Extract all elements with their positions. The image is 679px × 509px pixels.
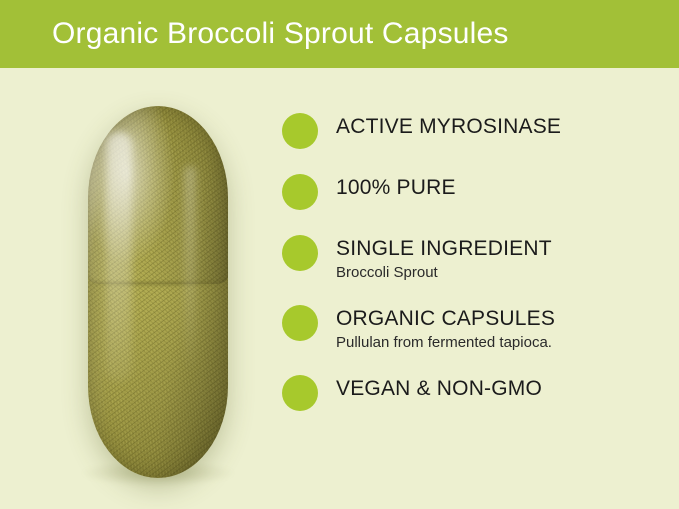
feature-title: ACTIVE MYROSINASE	[336, 114, 561, 140]
bullet-dot-icon	[282, 375, 318, 411]
bullet-dot-icon	[282, 305, 318, 341]
list-item: SINGLE INGREDIENT Broccoli Sprout	[282, 234, 662, 283]
header-banner: Organic Broccoli Sprout Capsules	[0, 0, 679, 68]
page-title: Organic Broccoli Sprout Capsules	[52, 17, 509, 51]
feature-subtitle: Pullulan from fermented tapioca.	[336, 333, 555, 353]
capsule-body	[88, 106, 228, 478]
feature-title: ORGANIC CAPSULES	[336, 306, 555, 332]
feature-text-group: SINGLE INGREDIENT Broccoli Sprout	[336, 234, 552, 283]
feature-text-group: ORGANIC CAPSULES Pullulan from fermented…	[336, 304, 555, 353]
list-item: 100% PURE	[282, 173, 662, 213]
list-item: ACTIVE MYROSINASE	[282, 112, 662, 152]
feature-title: VEGAN & NON-GMO	[336, 376, 542, 402]
bullet-dot-icon	[282, 113, 318, 149]
product-infographic: Organic Broccoli Sprout Capsules ACTIVE …	[0, 0, 679, 509]
feature-list: ACTIVE MYROSINASE 100% PURE SINGLE INGRE…	[282, 112, 662, 435]
feature-title: SINGLE INGREDIENT	[336, 236, 552, 262]
header-divider	[0, 68, 679, 71]
feature-title: 100% PURE	[336, 175, 456, 201]
product-image	[40, 84, 270, 494]
feature-text-group: VEGAN & NON-GMO	[336, 374, 542, 402]
feature-text-group: ACTIVE MYROSINASE	[336, 112, 561, 140]
capsule-highlight-right	[184, 166, 196, 376]
feature-subtitle: Broccoli Sprout	[336, 263, 552, 283]
bullet-dot-icon	[282, 174, 318, 210]
list-item: ORGANIC CAPSULES Pullulan from fermented…	[282, 304, 662, 353]
bullet-dot-icon	[282, 235, 318, 271]
feature-text-group: 100% PURE	[336, 173, 456, 201]
list-item: VEGAN & NON-GMO	[282, 374, 662, 414]
capsule-highlight-left	[106, 132, 132, 382]
